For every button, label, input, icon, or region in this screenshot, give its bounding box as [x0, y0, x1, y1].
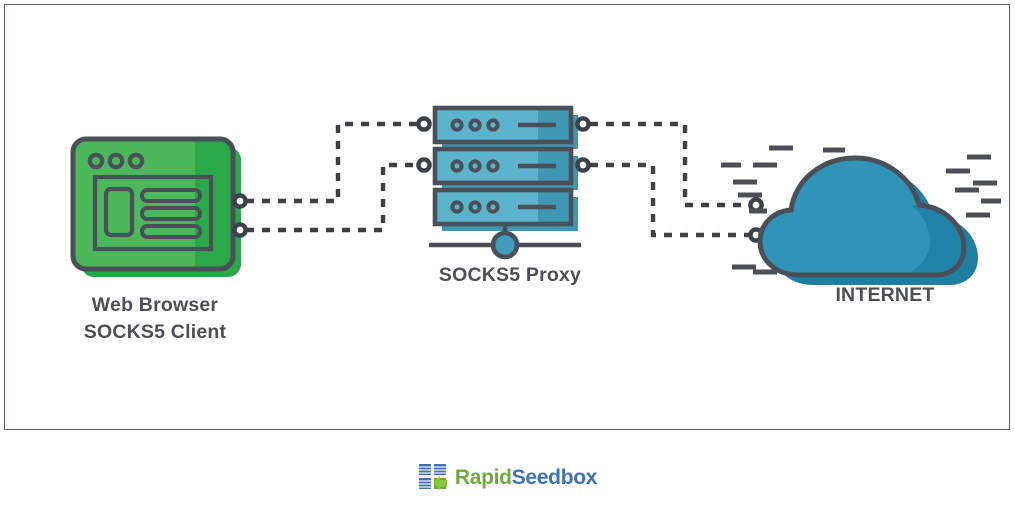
- connection-proxy-to-internet: [590, 124, 750, 235]
- diagram-canvas: Web Browser SOCKS5 Client SOCKS5 Proxy I…: [0, 0, 1015, 511]
- connector-rings-proxy-right: [577, 118, 588, 170]
- rapidseedbox-logo: RapidSeedbox: [418, 463, 597, 491]
- logo-text-seedbox: Seedbox: [512, 466, 597, 489]
- logo-text: RapidSeedbox: [455, 467, 597, 488]
- rapidseedbox-logo-icon: [418, 463, 448, 491]
- logo-text-rapid: Rapid: [455, 466, 512, 489]
- network-diagram-illustration: [5, 5, 1009, 429]
- label-socks5-proxy: SOCKS5 Proxy: [390, 264, 630, 287]
- diagram-frame: Web Browser SOCKS5 Client SOCKS5 Proxy I…: [4, 4, 1010, 430]
- label-internet: INTERNET: [780, 284, 990, 307]
- connection-client-to-proxy: [246, 124, 425, 230]
- label-web-browser-line2: SOCKS5 Client: [25, 319, 285, 346]
- label-web-browser: Web Browser SOCKS5 Client: [25, 292, 285, 346]
- label-web-browser-line1: Web Browser: [25, 292, 285, 319]
- footer: RapidSeedbox: [0, 443, 1015, 511]
- server-stack-icon: [429, 108, 581, 257]
- web-browser-icon: [73, 139, 241, 277]
- connector-rings-proxy-left: [418, 118, 429, 170]
- cloud-icon: [760, 158, 978, 285]
